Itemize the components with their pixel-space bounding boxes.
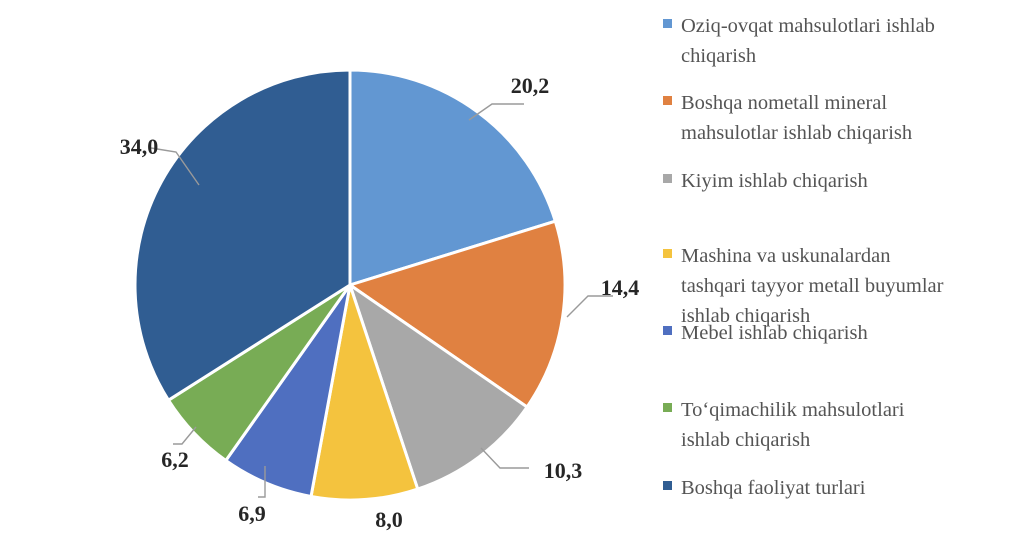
data-label-mebel: 6,9	[238, 501, 266, 526]
data-label-kiyim: 10,3	[544, 458, 583, 483]
data-label-nometall-mineral: 14,4	[601, 275, 640, 300]
pie-chart-figure: 20,214,410,38,06,96,234,0 Oziq-ovqat mah…	[0, 0, 1024, 555]
legend-item-0[interactable]: Oziq-ovqat mahsulotlari ishlabchiqarish	[663, 15, 935, 67]
legend-marker-icon	[663, 96, 672, 105]
legend-item-4[interactable]: Mebel ishlab chiqarish	[663, 322, 868, 344]
legend-item-2[interactable]: Kiyim ishlab chiqarish	[663, 170, 868, 192]
data-label-boshqa-faoliyat: 34,0	[120, 134, 159, 159]
legend-marker-icon	[663, 19, 672, 28]
legend-label: To‘qimachilik mahsulotlariishlab chiqari…	[681, 399, 905, 451]
legend-item-1[interactable]: Boshqa nometall mineralmahsulotlar ishla…	[663, 92, 912, 144]
legend-item-5[interactable]: To‘qimachilik mahsulotlariishlab chiqari…	[663, 399, 905, 451]
legend-label: Mashina va uskunalardantashqari tayyor m…	[681, 245, 944, 327]
legend-label: Kiyim ishlab chiqarish	[681, 170, 868, 192]
legend-marker-icon	[663, 403, 672, 412]
legend-marker-icon	[663, 174, 672, 183]
chart-canvas: 20,214,410,38,06,96,234,0 Oziq-ovqat mah…	[0, 0, 1024, 555]
data-label-toqimachilik: 6,2	[161, 447, 189, 472]
data-label-metall-buyumlar: 8,0	[375, 507, 403, 532]
chart-legend: Oziq-ovqat mahsulotlari ishlabchiqarishB…	[663, 15, 944, 499]
legend-label: Oziq-ovqat mahsulotlari ishlabchiqarish	[681, 15, 935, 67]
legend-label: Boshqa nometall mineralmahsulotlar ishla…	[681, 92, 912, 144]
legend-label: Mebel ishlab chiqarish	[681, 322, 868, 344]
pie-slices	[135, 70, 565, 500]
legend-marker-icon	[663, 481, 672, 490]
legend-item-3[interactable]: Mashina va uskunalardantashqari tayyor m…	[663, 245, 944, 327]
data-label-oziq-ovqat: 20,2	[511, 73, 550, 98]
legend-marker-icon	[663, 249, 672, 258]
legend-item-6[interactable]: Boshqa faoliyat turlari	[663, 477, 866, 499]
legend-label: Boshqa faoliyat turlari	[681, 477, 866, 499]
legend-marker-icon	[663, 326, 672, 335]
